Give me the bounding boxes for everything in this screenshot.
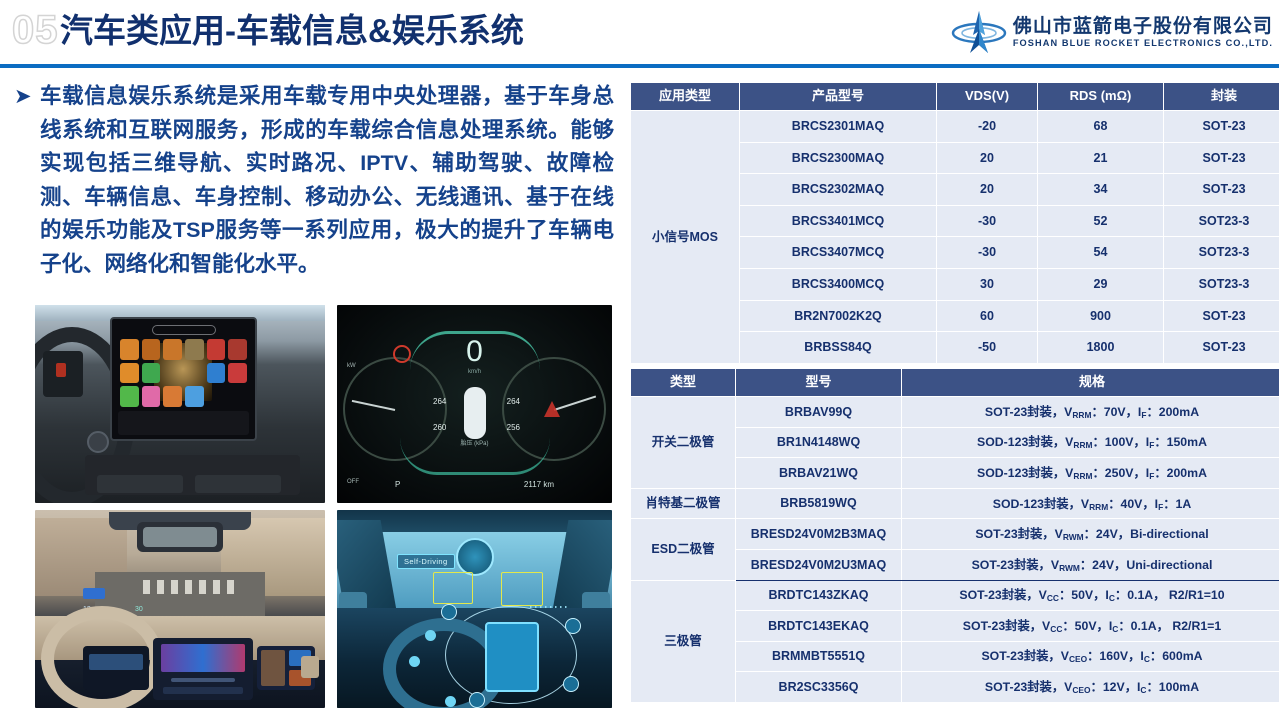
section-number: 05 xyxy=(12,8,59,52)
package: SOT23-3 xyxy=(1164,268,1279,300)
part-number: BRCS2300MAQ xyxy=(740,142,937,174)
cluster-bottom-arc xyxy=(400,438,550,475)
spec-subscript: CEO xyxy=(1069,654,1087,664)
spec-subscript: C xyxy=(1109,593,1115,603)
tire-pressure-rr: 256 xyxy=(507,423,520,432)
col-type: 类型 xyxy=(631,369,736,397)
col-package: 封装 xyxy=(1164,83,1279,111)
spec-subscript: RWM xyxy=(1063,532,1084,542)
part-number: BRESD24V0M2U3MAQ xyxy=(736,549,902,580)
spec-subscript: RRM xyxy=(1072,410,1091,420)
spec-text: SOT-23封装，VCEO：12V，IC：100mA xyxy=(902,672,1279,703)
col-application-type: 应用类型 xyxy=(631,83,740,111)
self-driving-concept-interior-photo: Self-Driving xyxy=(337,510,612,708)
spec-subscript: CC xyxy=(1050,624,1062,634)
app-icon xyxy=(185,363,204,384)
parking-brake-icon xyxy=(393,345,411,363)
part-number: BRCS2302MAQ xyxy=(740,174,937,206)
app-icon xyxy=(228,363,247,384)
spec-prefix: SOT-23封装，V xyxy=(985,405,1072,419)
display-tile xyxy=(89,654,143,670)
rds-value: 900 xyxy=(1038,300,1164,332)
col-model: 型号 xyxy=(736,369,902,397)
app-icon xyxy=(228,386,247,407)
navigation-display xyxy=(485,622,539,692)
spec-middle: ：50V，I xyxy=(1059,588,1109,602)
spec-suffix: ：0.1A， R2/R1=1 xyxy=(1118,619,1221,633)
hud-node-icon xyxy=(469,692,485,708)
company-name-block: 佛山市蓝箭电子股份有限公司 FOSHAN BLUE ROCKET ELECTRO… xyxy=(1013,16,1273,49)
diode-group-label: ESD二极管 xyxy=(631,519,736,580)
part-number: BRB5819WQ xyxy=(736,488,902,519)
arrow-bullet-icon: ➤ xyxy=(14,80,40,281)
status-pill xyxy=(152,325,216,335)
rds-value: 34 xyxy=(1038,174,1164,206)
part-number: BRDTC143ZKAQ xyxy=(736,580,902,611)
app-icon xyxy=(207,339,226,360)
spec-subscript: RRM xyxy=(1089,502,1108,512)
part-number: BR2SC3356Q xyxy=(736,672,902,703)
spec-suffix: ：1A xyxy=(1163,497,1191,511)
spec-prefix: SOT-23封装，V xyxy=(975,527,1062,541)
spec-subscript: RWM xyxy=(1059,563,1080,573)
spec-suffix: ：600mA xyxy=(1150,649,1203,663)
digital-instrument-cluster-photo: 0 km/h 264 264 260 256 胎压 (kPa) P 2117 k… xyxy=(337,305,612,503)
mos-table-body: 小信号MOS BRCS2301MAQ -20 68 SOT-23 BRCS230… xyxy=(631,111,1279,364)
app-icon xyxy=(163,386,182,407)
part-number: BRESD24V0M2B3MAQ xyxy=(736,519,902,550)
spec-subscript: C xyxy=(1140,685,1146,695)
table-row: ESD二极管 BRESD24V0M2B3MAQ SOT-23封装，VRWM：24… xyxy=(631,519,1279,550)
part-number: BRBAV99Q xyxy=(736,397,902,428)
center-touchscreen xyxy=(110,317,257,441)
package: SOT-23 xyxy=(1164,332,1279,364)
spec-subscript: C xyxy=(1144,654,1150,664)
table-row: 三极管 BRDTC143ZKAQ SOT-23封装，VCC：50V，IC：0.1… xyxy=(631,580,1279,611)
hud-icon xyxy=(425,630,436,641)
app-icon xyxy=(142,339,161,360)
driver-display xyxy=(83,646,149,690)
mos-group-label: 小信号MOS xyxy=(631,111,740,364)
ai-network-icon xyxy=(456,538,494,576)
self-driving-label: Self-Driving xyxy=(397,554,455,569)
spec-text: SOT-23封装，VRRM：70V，IF：200mA xyxy=(902,397,1279,428)
rds-value: 21 xyxy=(1038,142,1164,174)
spec-prefix: SOT-23封装，V xyxy=(981,649,1068,663)
slide-root: 05 汽车类应用-车载信息&娱乐系统 佛山市蓝箭电子股份有限公司 FOSHAN … xyxy=(0,0,1279,720)
gear-indicator: P xyxy=(395,480,400,489)
spec-middle: ：100V，I xyxy=(1092,435,1149,449)
package: SOT-23 xyxy=(1164,300,1279,332)
table-row: 小信号MOS BRCS2301MAQ -20 68 SOT-23 xyxy=(631,111,1279,143)
vds-value: 30 xyxy=(937,268,1038,300)
spec-middle: ：50V，I xyxy=(1062,619,1112,633)
spec-suffix: ：0.1A， R2/R1=10 xyxy=(1115,588,1225,602)
vds-value: -30 xyxy=(937,205,1038,237)
rds-value: 54 xyxy=(1038,237,1164,269)
spec-prefix: SOT-23封装，V xyxy=(959,588,1046,602)
table-row: 开关二极管 BRBAV99Q SOT-23封装，VRRM：70V，IF：200m… xyxy=(631,397,1279,428)
col-spec: 规格 xyxy=(902,369,1279,397)
package: SOT23-3 xyxy=(1164,237,1279,269)
spec-middle: ：24V，Bi-directional xyxy=(1084,527,1209,541)
table-header-row: 应用类型 产品型号 VDS(V) RDS (mΩ) 封装 xyxy=(631,83,1279,111)
media-controls xyxy=(163,687,243,694)
package: SOT-23 xyxy=(1164,174,1279,206)
spec-text: SOT-23封装，VRWM：24V，Uni-directional xyxy=(902,549,1279,580)
app-icon xyxy=(120,339,139,360)
car-infotainment-dashboard-photo xyxy=(35,305,325,503)
screen-status-bar xyxy=(118,324,249,333)
part-number: BR2N7002K2Q xyxy=(740,300,937,332)
mos-products-table: 应用类型 产品型号 VDS(V) RDS (mΩ) 封装 小信号MOS BRCS… xyxy=(630,82,1279,364)
spec-prefix: SOT-23封装，V xyxy=(963,619,1050,633)
spec-suffix: ：200mA xyxy=(1146,405,1199,419)
spec-middle: ：250V，I xyxy=(1092,466,1149,480)
spec-subscript: F xyxy=(1158,502,1163,512)
vds-value: 20 xyxy=(937,142,1038,174)
vds-value: -50 xyxy=(937,332,1038,364)
company-name-en: FOSHAN BLUE ROCKET ELECTRONICS CO.,LTD. xyxy=(1013,37,1273,49)
spec-subscript: F xyxy=(1141,410,1146,420)
spec-prefix: SOT-23封装，V xyxy=(972,558,1059,572)
spec-suffix: ：100mA xyxy=(1146,680,1199,694)
spec-subscript: C xyxy=(1112,624,1118,634)
tire-pressure-fl: 264 xyxy=(433,397,446,406)
content-tile xyxy=(261,650,285,686)
slide-header: 05 汽车类应用-车载信息&娱乐系统 佛山市蓝箭电子股份有限公司 FOSHAN … xyxy=(0,0,1279,67)
object-detection-box xyxy=(433,572,473,604)
spec-text: SOD-123封装，VRRM：250V，IF：200mA xyxy=(902,458,1279,489)
hud-speed: 30 xyxy=(135,606,143,613)
app-icon xyxy=(142,386,161,407)
off-label: OFF xyxy=(347,479,359,485)
diode-group-label: 开关二极管 xyxy=(631,397,736,489)
odometer-value: 2117 km xyxy=(524,480,554,489)
part-number: BRCS2301MAQ xyxy=(740,111,937,143)
rds-value: 29 xyxy=(1038,268,1164,300)
header-divider xyxy=(0,64,1279,68)
spec-subscript: F xyxy=(1149,440,1154,450)
spec-prefix: SOD-123封装，V xyxy=(977,435,1073,449)
package: SOT-23 xyxy=(1164,111,1279,143)
car-top-view xyxy=(464,387,486,439)
part-number: BRMMBT5551Q xyxy=(736,641,902,672)
vds-value: 20 xyxy=(937,174,1038,206)
tire-pressure-rl: 260 xyxy=(433,423,446,432)
photo-row-top: 0 km/h 264 264 260 256 胎压 (kPa) P 2117 k… xyxy=(35,305,615,503)
diode-products-table: 类型 型号 规格 开关二极管 BRBAV99Q SOT-23封装，VRRM：70… xyxy=(630,368,1279,703)
hud-icon xyxy=(445,696,456,707)
company-logo: 佛山市蓝箭电子股份有限公司 FOSHAN BLUE ROCKET ELECTRO… xyxy=(950,6,1273,58)
part-number: BRBSS84Q xyxy=(740,332,937,364)
vds-value: -20 xyxy=(937,111,1038,143)
hud-node-icon xyxy=(563,676,579,692)
tire-pressure-fr: 264 xyxy=(507,397,520,406)
speed-value: 0 xyxy=(466,337,483,367)
part-number: BRDTC143EKAQ xyxy=(736,611,902,642)
photo-row-bottom: 12 30 xyxy=(35,510,615,708)
vds-value: -30 xyxy=(937,237,1038,269)
hud-node-icon xyxy=(441,604,457,620)
page-title: 汽车类应用-车载信息&娱乐系统 xyxy=(60,8,524,54)
app-icon xyxy=(120,386,139,407)
crosswalk xyxy=(143,580,239,594)
center-display xyxy=(153,638,253,700)
spec-subscript: CC xyxy=(1047,593,1059,603)
spec-text: SOD-123封装，VRRM：100V，IF：150mA xyxy=(902,427,1279,458)
hud-node-icon xyxy=(565,618,581,634)
table-header-row: 类型 型号 规格 xyxy=(631,369,1279,397)
spec-middle: ：12V，I xyxy=(1091,680,1141,694)
app-icon xyxy=(207,363,226,384)
table-row: 肖特基二极管 BRB5819WQ SOD-123封装，VRRM：40V，IF：1… xyxy=(631,488,1279,519)
spec-suffix: ：150mA xyxy=(1154,435,1207,449)
app-icon xyxy=(185,386,204,407)
air-vent xyxy=(97,475,183,493)
company-name-cn: 佛山市蓝箭电子股份有限公司 xyxy=(1013,16,1273,37)
hud-badge-icon xyxy=(83,588,105,599)
intro-block: ➤ 车载信息娱乐系统是采用车载专用中央处理器，基于车身总线系统和互联网服务，形成… xyxy=(14,80,614,281)
spec-suffix: ：200mA xyxy=(1154,466,1207,480)
vds-value: 60 xyxy=(937,300,1038,332)
package: SOT-23 xyxy=(1164,142,1279,174)
part-number: BR1N4148WQ xyxy=(736,427,902,458)
diode-group-label: 肖特基二极管 xyxy=(631,488,736,519)
app-icon-grid xyxy=(120,339,247,407)
spec-text: SOT-23封装，VCEO：160V，IC：600mA xyxy=(902,641,1279,672)
spec-subscript: RRM xyxy=(1073,471,1092,481)
instrument-cluster xyxy=(43,351,83,397)
part-number: BRBAV21WQ xyxy=(736,458,902,489)
col-vds: VDS(V) xyxy=(937,83,1038,111)
spec-text: SOD-123封装，VRRM：40V，IF：1A xyxy=(902,488,1279,519)
kw-gauge-label: kW xyxy=(347,363,356,369)
app-icon xyxy=(207,386,226,407)
spec-prefix: SOT-23封装，V xyxy=(985,680,1072,694)
app-icon xyxy=(163,339,182,360)
spec-middle: ：24V，Uni-directional xyxy=(1080,558,1213,572)
app-icon xyxy=(228,339,247,360)
app-icon xyxy=(142,363,161,384)
rearview-mirror xyxy=(137,522,223,552)
progress-bar xyxy=(171,678,235,682)
rds-value: 52 xyxy=(1038,205,1164,237)
spec-text: SOT-23封装，VCC：50V，IC：0.1A， R2/R1=10 xyxy=(902,580,1279,611)
app-icon xyxy=(163,363,182,384)
spec-middle: ：160V，I xyxy=(1087,649,1144,663)
air-vent xyxy=(195,475,281,493)
diode-table-body: 开关二极管 BRBAV99Q SOT-23封装，VRRM：70V，IF：200m… xyxy=(631,397,1279,703)
col-part-number: 产品型号 xyxy=(740,83,937,111)
media-artwork xyxy=(161,644,245,672)
app-icon xyxy=(185,339,204,360)
blue-rocket-logo-icon xyxy=(950,9,1008,55)
hud-icon xyxy=(409,656,420,667)
photo-gallery: 0 km/h 264 264 260 256 胎压 (kPa) P 2117 k… xyxy=(35,305,615,715)
spec-prefix: SOD-123封装，V xyxy=(993,497,1089,511)
part-number: BRCS3407MCQ xyxy=(740,237,937,269)
spec-subscript: CEO xyxy=(1072,685,1090,695)
speed-unit: km/h xyxy=(468,369,481,375)
spec-middle: ：70V，I xyxy=(1091,405,1141,419)
spec-text: SOT-23封装，VRWM：24V，Bi-directional xyxy=(902,519,1279,550)
spec-subscript: F xyxy=(1149,471,1154,481)
rds-value: 1800 xyxy=(1038,332,1164,364)
climate-dock xyxy=(118,411,249,435)
spec-middle: ：40V，I xyxy=(1108,497,1158,511)
spec-prefix: SOD-123封装，V xyxy=(977,466,1073,480)
part-number: BRCS3401MCQ xyxy=(740,205,937,237)
air-vent xyxy=(301,656,319,678)
part-number: BRCS3400MCQ xyxy=(740,268,937,300)
object-detection-box xyxy=(501,572,543,606)
intro-text: 车载信息娱乐系统是采用车载专用中央处理器，基于车身总线系统和互联网服务，形成的车… xyxy=(40,80,614,281)
col-rds: RDS (mΩ) xyxy=(1038,83,1164,111)
spec-text: SOT-23封装，VCC：50V，IC：0.1A， R2/R1=1 xyxy=(902,611,1279,642)
app-icon xyxy=(120,363,139,384)
fuel-needle-icon xyxy=(544,401,560,417)
rds-value: 68 xyxy=(1038,111,1164,143)
console-knob xyxy=(87,431,109,453)
diode-group-label: 三极管 xyxy=(631,580,736,702)
package: SOT23-3 xyxy=(1164,205,1279,237)
hud-ar-navigation-interior-photo: 12 30 xyxy=(35,510,325,708)
spec-subscript: RRM xyxy=(1073,440,1092,450)
